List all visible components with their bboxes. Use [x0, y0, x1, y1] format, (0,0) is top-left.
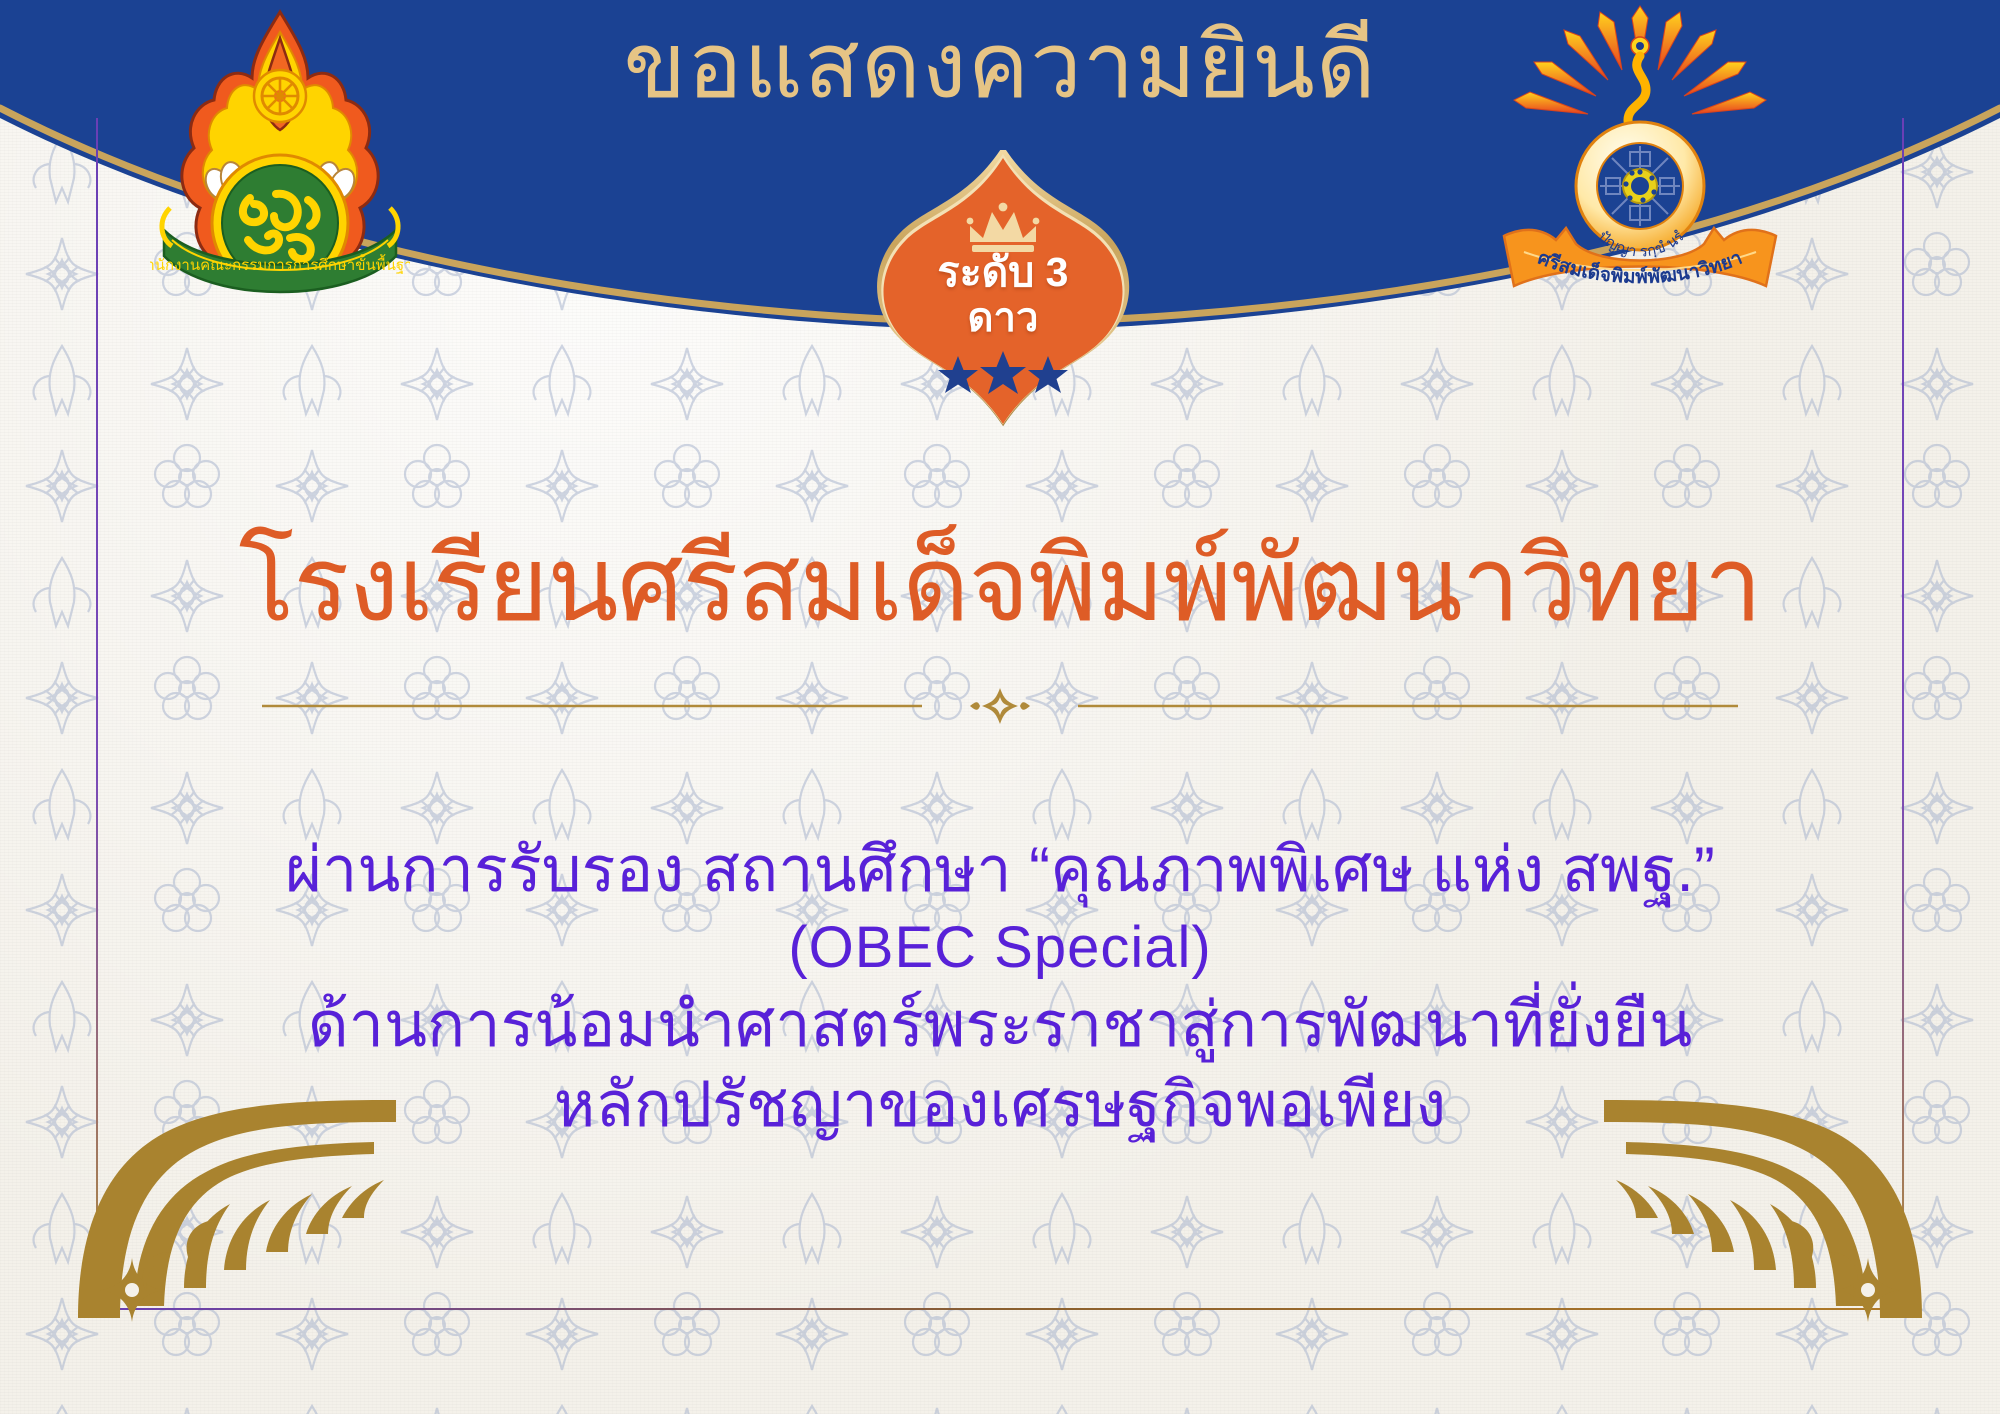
school-emblem-icon: ปัญญา รกฺขํ นรํ ศรีสมเด็จพิมพ์พัฒนาวิทยา: [1480, 4, 1800, 304]
badge-stars: [838, 346, 1168, 406]
body-line-1: ผ่านการรับรอง สถานศึกษา “คุณภาพพิเศษ แห่…: [100, 830, 1900, 911]
body-line-3: ด้านการน้อมนำศาสตร์พระราชาสู่การพัฒนาที่…: [100, 985, 1900, 1066]
obec-emblem-icon: สำนักงานคณะกรรมการการศึกษาขั้นพื้นฐาน: [150, 8, 410, 338]
certificate-page: ขอแสดงความยินดี: [0, 0, 2000, 1414]
obec-ribbon-text: สำนักงานคณะกรรมการการศึกษาขั้นพื้นฐาน: [150, 254, 410, 274]
divider-ornament: [262, 686, 1738, 726]
level-badge: ระดับ 3 ดาว: [838, 150, 1168, 430]
corner-ornament-bottom-right: [1596, 1092, 1926, 1322]
body-line-2: (OBEC Special): [100, 911, 1900, 985]
corner-ornament-bottom-left: [74, 1092, 404, 1322]
school-name-heading: โรงเรียนศรีสมเด็จพิมพ์พัฒนาวิทยา: [0, 528, 2000, 642]
